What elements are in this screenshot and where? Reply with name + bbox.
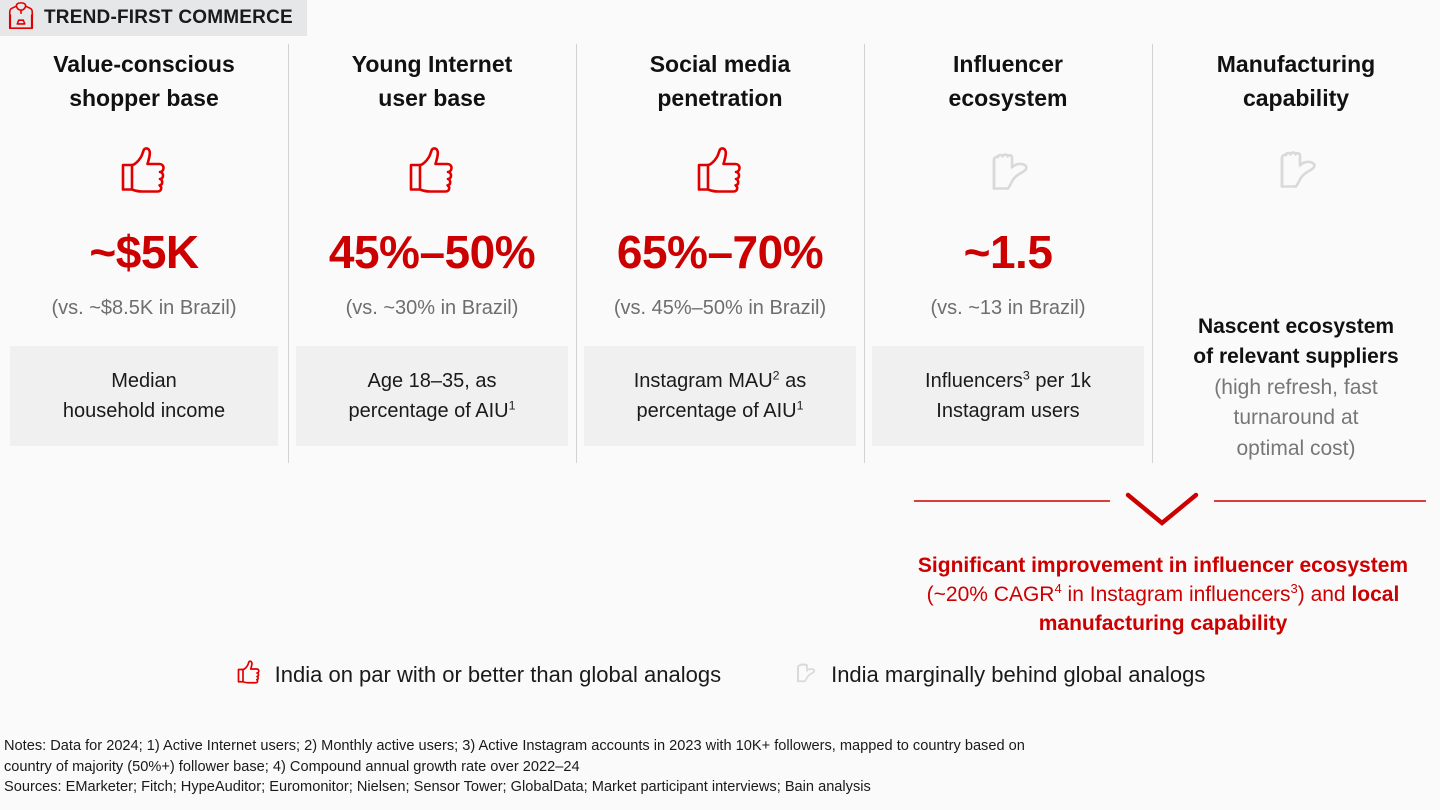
callout-text: Significant improvement in influencer ec…: [885, 552, 1440, 639]
column-stat: ~$5K: [89, 229, 198, 275]
column-compare: (vs. 45%–50% in Brazil): [614, 297, 826, 320]
manufacturing-summary: Nascent ecosystemof relevant suppliers (…: [1193, 312, 1398, 464]
legend: India on par with or better than global …: [0, 658, 1440, 692]
column-compare: (vs. ~13 in Brazil): [930, 297, 1085, 320]
legend-label: India marginally behind global analogs: [831, 662, 1205, 688]
callout-bold-1: Significant improvement in influencer ec…: [918, 554, 1408, 577]
column-title: Value-consciousshopper base: [53, 48, 235, 115]
manufacturing-sub: (high refresh, fastturnaround atoptimal …: [1193, 373, 1398, 464]
column-compare: (vs. ~30% in Brazil): [346, 297, 519, 320]
thumbs-sideways-icon: [1268, 133, 1324, 204]
footnote-notes-line-1: Notes: Data for 2024; 1) Active Internet…: [4, 736, 1436, 757]
column-social-media-penetration: Social mediapenetration 65%–70% (vs. 45%…: [576, 44, 864, 464]
legend-label: India on par with or better than global …: [275, 662, 721, 688]
caption-text: Medianhousehold income: [63, 366, 225, 426]
footnote-sources: Sources: EMarketer; Fitch; HypeAuditor; …: [4, 777, 1436, 798]
column-caption: Age 18–35, aspercentage of AIU1: [296, 346, 568, 446]
column-young-internet-user-base: Young Internetuser base 45%–50% (vs. ~30…: [288, 44, 576, 464]
callout-regular-1: (~20% CAGR4 in Instagram influencers3) a…: [927, 583, 1352, 606]
thumbs-up-icon: [116, 133, 172, 207]
thumbs-up-icon: [235, 658, 263, 692]
footnote-notes-line-2: country of majority (50%+) follower base…: [4, 757, 1436, 778]
bracket-connector: [898, 492, 1426, 528]
manufacturing-headline: Nascent ecosystemof relevant suppliers: [1193, 312, 1398, 373]
column-caption: Instagram MAU2 aspercentage of AIU1: [584, 346, 856, 446]
footnotes: Notes: Data for 2024; 1) Active Internet…: [0, 736, 1440, 798]
column-stat: 65%–70%: [617, 229, 823, 275]
slide-root: TREND-FIRST COMMERCE Value-consciousshop…: [0, 0, 1440, 810]
banner: TREND-FIRST COMMERCE: [0, 0, 307, 36]
legend-item-positive: India on par with or better than global …: [235, 658, 721, 692]
thumbs-up-icon: [692, 133, 748, 207]
banner-title: TREND-FIRST COMMERCE: [44, 7, 293, 29]
thumbs-up-icon: [404, 133, 460, 207]
caption-text: Instagram MAU2 aspercentage of AIU1: [634, 366, 807, 426]
column-caption: Medianhousehold income: [10, 346, 278, 446]
column-title: Social mediapenetration: [650, 48, 791, 115]
thumbs-sideways-icon: [791, 658, 819, 692]
column-title: Young Internetuser base: [352, 48, 513, 115]
caption-text: Influencers3 per 1kInstagram users: [925, 366, 1091, 426]
column-stat: ~1.5: [964, 229, 1053, 275]
caption-text: Age 18–35, aspercentage of AIU1: [348, 366, 515, 426]
column-title: Manufacturingcapability: [1217, 48, 1375, 115]
column-caption: Influencers3 per 1kInstagram users: [872, 346, 1144, 446]
column-manufacturing-capability: Manufacturingcapability Nascent ecosyste…: [1152, 44, 1440, 464]
column-influencer-ecosystem: Influencerecosystem ~1.5 (vs. ~13 in Bra…: [864, 44, 1152, 464]
column-stat: 45%–50%: [329, 229, 535, 275]
legend-item-neutral: India marginally behind global analogs: [791, 658, 1205, 692]
column-title: Influencerecosystem: [949, 48, 1068, 115]
metric-columns: Value-consciousshopper base ~$5K (vs. ~$…: [0, 44, 1440, 464]
column-compare: (vs. ~$8.5K in Brazil): [51, 297, 236, 320]
hoodie-icon: [6, 1, 36, 36]
column-value-conscious-shopper-base: Value-consciousshopper base ~$5K (vs. ~$…: [0, 44, 288, 464]
thumbs-sideways-icon: [980, 133, 1036, 207]
